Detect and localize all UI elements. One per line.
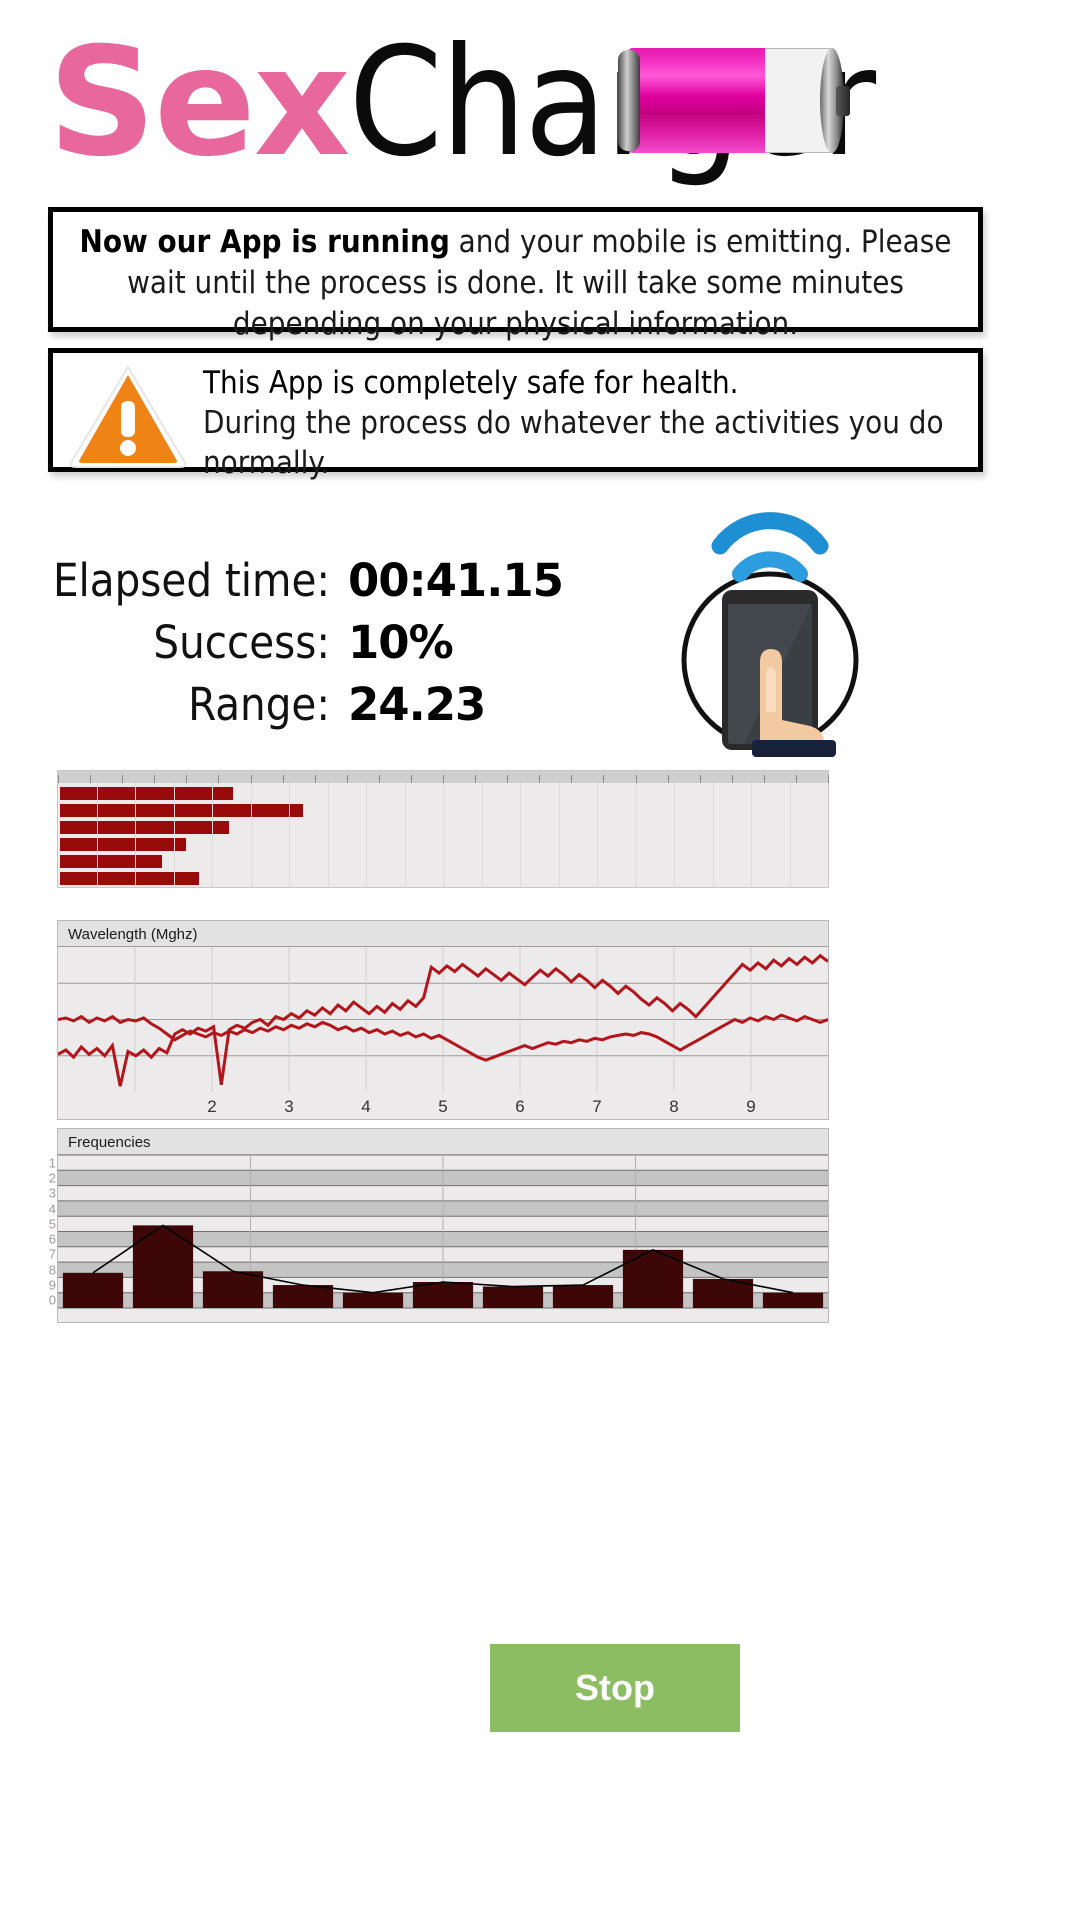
hbar-tick — [122, 775, 123, 783]
hbar-tick — [315, 775, 316, 783]
hbar-item — [60, 872, 199, 885]
frequencies-y-tick: 6 — [49, 1232, 56, 1247]
battery-icon — [618, 48, 850, 153]
wavelength-x-tick: 4 — [361, 1097, 370, 1117]
hbar-gridline — [405, 783, 406, 887]
wavelength-chart: Wavelength (Mghz) 23456789 — [57, 920, 829, 1120]
hbar-tick — [443, 775, 444, 783]
wavelength-x-tick: 2 — [207, 1097, 216, 1117]
hbar-gridline — [135, 783, 136, 887]
hbar-tick — [668, 775, 669, 783]
safety-notice-box: This App is completely safe for health. … — [48, 348, 983, 472]
wavelength-x-tick: 9 — [746, 1097, 755, 1117]
stat-value-success: 10% — [348, 614, 453, 672]
status-info-box: Now our App is running and your mobile i… — [48, 207, 983, 332]
hbar-tick — [603, 775, 604, 783]
hbar-tick — [251, 775, 252, 783]
status-info-strong: Now our App is running — [80, 224, 450, 260]
hbar-gridline — [751, 783, 752, 887]
frequencies-y-tick: 0 — [49, 1293, 56, 1308]
safety-line-1: This App is completely safe for health. — [203, 363, 968, 403]
stat-label-elapsed-time: Elapsed time: — [40, 552, 348, 610]
safety-line-2: During the process do whatever the activ… — [203, 403, 968, 483]
hbar-gridline — [520, 783, 521, 887]
signal-strength-bars-chart — [57, 770, 829, 888]
wavelength-x-tick: 5 — [438, 1097, 447, 1117]
stat-row-elapsed-time: Elapsed time: 00:41.15 — [40, 552, 620, 610]
hbar-tick — [411, 775, 412, 783]
frequencies-chart: Frequencies 1234567890 — [57, 1128, 829, 1323]
hbar-item — [60, 787, 233, 800]
hbar-gridline — [289, 783, 290, 887]
hbar-item — [60, 838, 186, 851]
hbar-tick — [796, 775, 797, 783]
hbar-tick — [475, 775, 476, 783]
hbar-gridline — [713, 783, 714, 887]
wavelength-x-tick: 8 — [669, 1097, 678, 1117]
hbar-tick — [571, 775, 572, 783]
battery-fill-level — [626, 48, 765, 153]
hbar-tick — [539, 775, 540, 783]
stat-value-range: 24.23 — [348, 676, 485, 734]
hbar-gridline — [636, 783, 637, 887]
hbar-gridline — [790, 783, 791, 887]
hbar-item — [60, 821, 229, 834]
app-screen: SexCharger Now our App is running and yo… — [0, 0, 1080, 1920]
hbar-tick — [90, 775, 91, 783]
frequencies-y-tick: 1 — [49, 1155, 56, 1170]
hbar-item — [60, 855, 162, 868]
hbar-tick — [154, 775, 155, 783]
hbar-tick — [283, 775, 284, 783]
hbar-tick — [58, 775, 59, 783]
frequencies-y-tick: 5 — [49, 1216, 56, 1231]
stop-button[interactable]: Stop — [490, 1644, 740, 1732]
frequencies-y-tick: 4 — [49, 1201, 56, 1216]
hbar-tick — [347, 775, 348, 783]
frequencies-y-tick: 9 — [49, 1278, 56, 1293]
battery-terminal — [836, 86, 850, 116]
battery-body — [626, 48, 836, 153]
wavelength-x-axis: 23456789 — [58, 1091, 828, 1119]
hbar-gridline — [482, 783, 483, 887]
stat-label-success: Success: — [40, 614, 348, 672]
wavelength-plot — [58, 947, 828, 1092]
hbar-gridline — [212, 783, 213, 887]
wavelength-x-tick: 6 — [515, 1097, 524, 1117]
hbar-gridline — [366, 783, 367, 887]
hbar-tick — [186, 775, 187, 783]
frequencies-chart-title: Frequencies — [58, 1129, 828, 1155]
hbar-tick — [379, 775, 380, 783]
wavelength-x-tick: 7 — [592, 1097, 601, 1117]
hbar-tick — [732, 775, 733, 783]
frequencies-y-tick: 2 — [49, 1170, 56, 1185]
frequencies-y-tick: 3 — [49, 1186, 56, 1201]
hbar-gridline — [174, 783, 175, 887]
safety-notice-text: This App is completely safe for health. … — [203, 353, 978, 483]
frequencies-plot — [58, 1155, 828, 1322]
app-title-sex: Sex — [48, 16, 349, 190]
status-info-text: Now our App is running and your mobile i… — [69, 222, 962, 345]
stats-panel: Elapsed time: 00:41.15 Success: 10% Rang… — [40, 552, 620, 738]
stat-value-elapsed-time: 00:41.15 — [348, 552, 563, 610]
hbar-tick — [507, 775, 508, 783]
stat-label-range: Range: — [40, 676, 348, 734]
hbar-gridline — [559, 783, 560, 887]
hbar-gridline — [251, 783, 252, 887]
phone-emitting-signal-icon — [648, 512, 888, 757]
hbar-tick — [218, 775, 219, 783]
hbar-gridline — [97, 783, 98, 887]
stat-row-success: Success: 10% — [40, 614, 620, 672]
frequencies-y-tick: 8 — [49, 1262, 56, 1277]
hbar-tick — [700, 775, 701, 783]
wavelength-chart-title: Wavelength (Mghz) — [58, 921, 828, 947]
warning-triangle-icon — [53, 353, 203, 477]
hbar-gridline — [597, 783, 598, 887]
wavelength-x-tick: 3 — [284, 1097, 293, 1117]
hbar-tick — [764, 775, 765, 783]
hbar-gridline — [328, 783, 329, 887]
hbar-tick-strip — [58, 771, 828, 783]
stat-row-range: Range: 24.23 — [40, 676, 620, 734]
hbar-gridline — [443, 783, 444, 887]
hbar-tick — [636, 775, 637, 783]
hbar-gridline — [674, 783, 675, 887]
battery-cap-left — [618, 50, 640, 151]
app-logo: SexCharger — [0, 18, 1080, 188]
hbar-tick — [828, 775, 829, 783]
frequencies-y-tick: 7 — [49, 1247, 56, 1262]
